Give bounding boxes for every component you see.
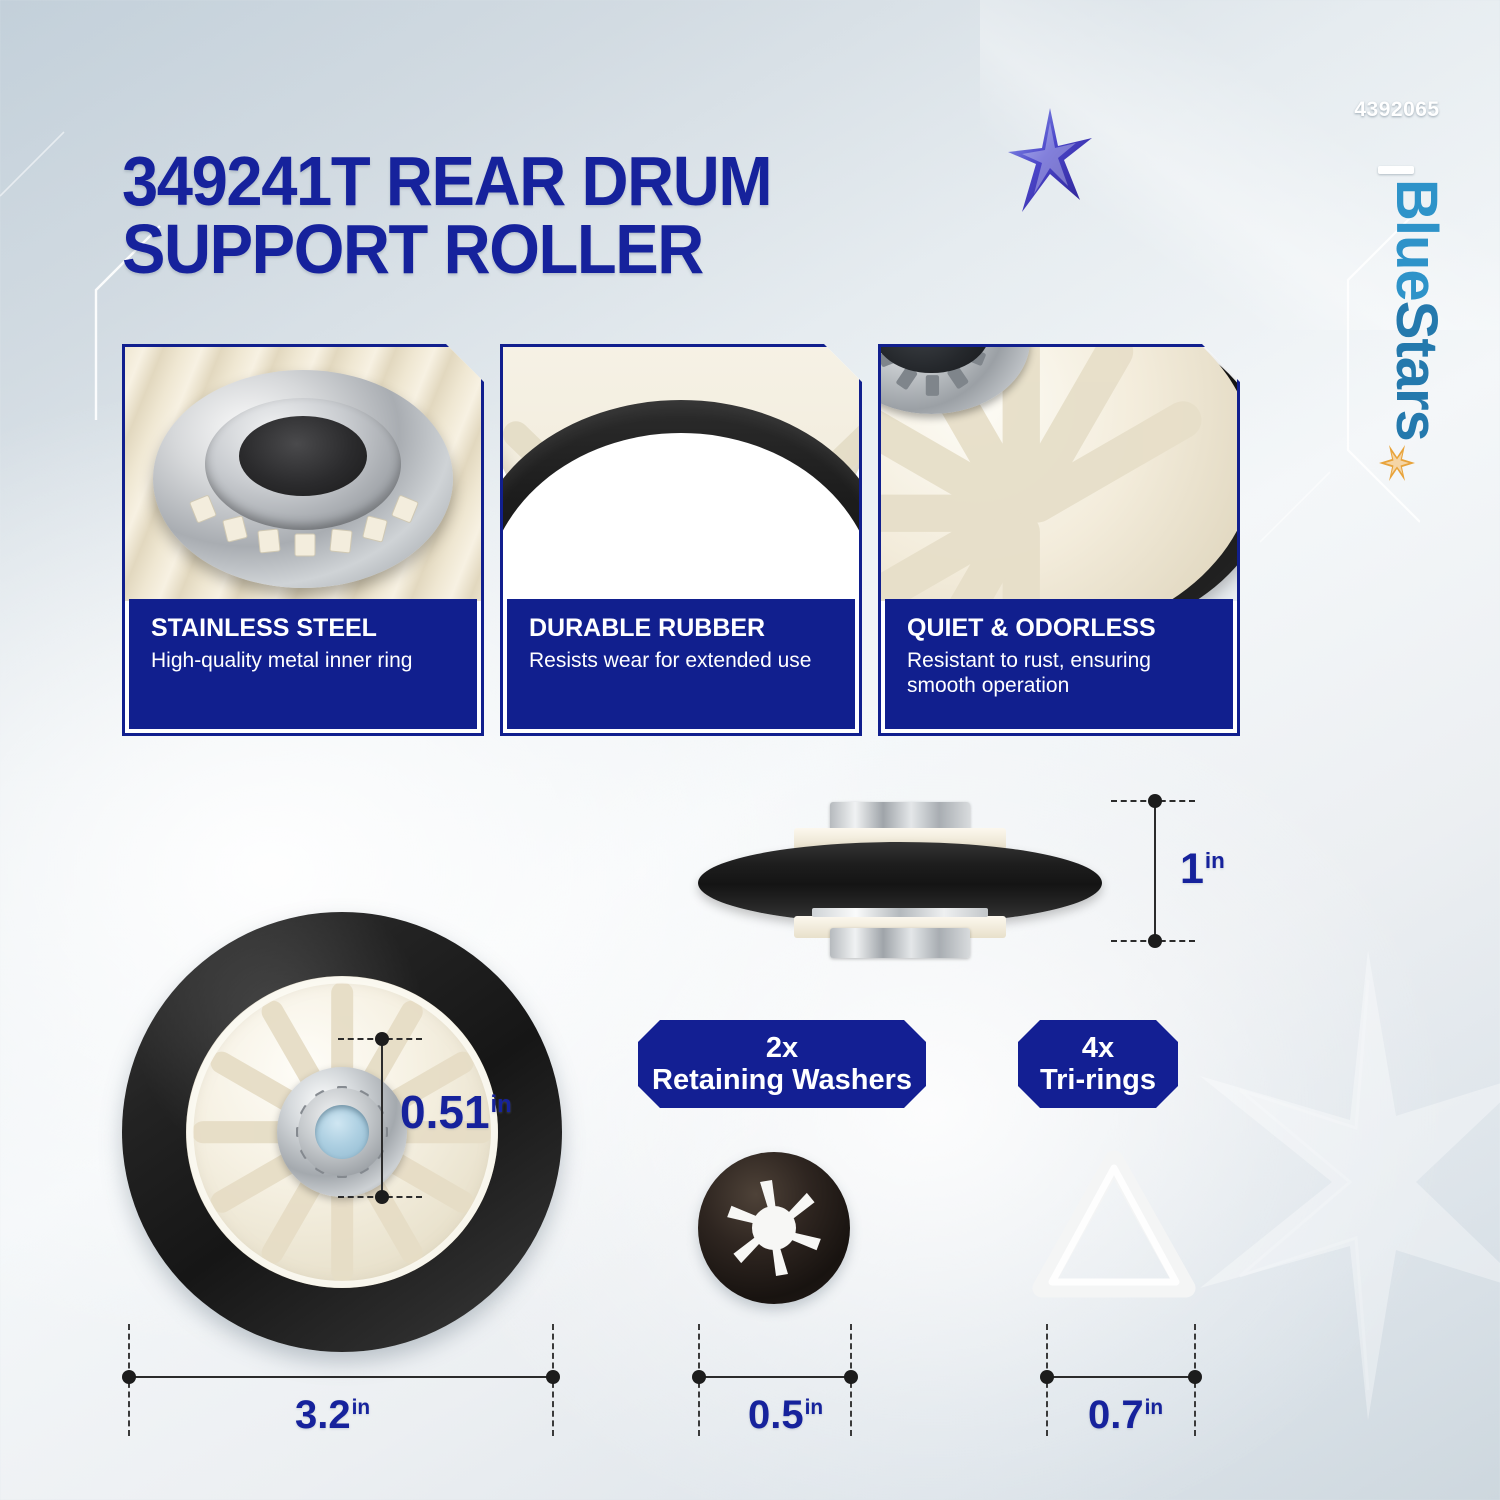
feature-desc-2: Resists wear for extended use [529,648,835,673]
badge-name-washers: Retaining Washers [652,1064,912,1096]
dimension-triring-size-label: 0.7in [1088,1393,1163,1438]
brand-star-icon [1377,443,1417,483]
feature-card-durable-rubber[interactable]: DURABLE RUBBER Resists wear for extended… [500,344,862,736]
roller-side-view [690,782,1110,972]
badge-tri-rings[interactable]: 4x Tri-rings [1018,1020,1178,1108]
dimension-washer-diameter-label: 0.5in [748,1393,823,1438]
divider-dash [1378,166,1414,174]
feature-title-3: QUIET & ODORLESS [907,615,1213,641]
feature-desc-1: High-quality metal inner ring [151,648,457,673]
roller-inner-bore [315,1105,369,1159]
badge-retaining-washers[interactable]: 2x Retaining Washers [638,1020,926,1108]
feature-desc-3: Resistant to rust, ensuring smooth opera… [907,648,1213,698]
feature-title-2: DURABLE RUBBER [529,615,835,641]
hub-boss-bottom [830,928,970,958]
feature-label-1: STAINLESS STEEL High-quality metal inner… [129,599,477,729]
retaining-washer [698,1152,850,1304]
sparkle-star-icon [1008,108,1092,212]
washer-star-cutout-icon [698,1152,850,1304]
badge-name-trirings: Tri-rings [1040,1064,1156,1096]
feature-card-stainless-steel[interactable]: STAINLESS STEEL High-quality metal inner… [122,344,484,736]
dimension-thickness-label: 1in [1180,845,1225,894]
brand-name-secondary: Stars [1384,301,1451,441]
page-title: 349241T REAR DRUM SUPPORT ROLLER [122,148,1015,284]
hub-flange-bottom [812,908,988,917]
feature-title-1: STAINLESS STEEL [151,615,457,641]
feature-photo-steel-hub [125,347,481,601]
feature-photo-roller-angled [881,347,1237,601]
feature-photo-rubber-rim [503,347,859,601]
feature-card-list: STAINLESS STEEL High-quality metal inner… [122,344,1260,736]
brand-logo: Blue Stars [1332,224,1500,644]
feature-label-3: QUIET & ODORLESS Resistant to rust, ensu… [885,599,1233,729]
page-title-line-2: SUPPORT ROLLER [122,216,1015,284]
feature-card-quiet-odorless[interactable]: QUIET & ODORLESS Resistant to rust, ensu… [878,344,1240,736]
badge-count-trirings: 4x [1082,1032,1114,1064]
feature-label-2: DURABLE RUBBER Resists wear for extended… [507,599,855,729]
part-number: 4392065 [1337,98,1457,122]
page-title-line-1: 349241T REAR DRUM [122,148,1015,216]
brand-watermark-star [1200,950,1500,1420]
tri-ring [1030,1146,1198,1306]
badge-count-washers: 2x [766,1032,798,1064]
dimension-bore-label: 0.51in [400,1085,512,1139]
dimension-roller-diameter-label: 3.2in [295,1393,370,1438]
brand-name-primary: Blue [1384,179,1451,301]
